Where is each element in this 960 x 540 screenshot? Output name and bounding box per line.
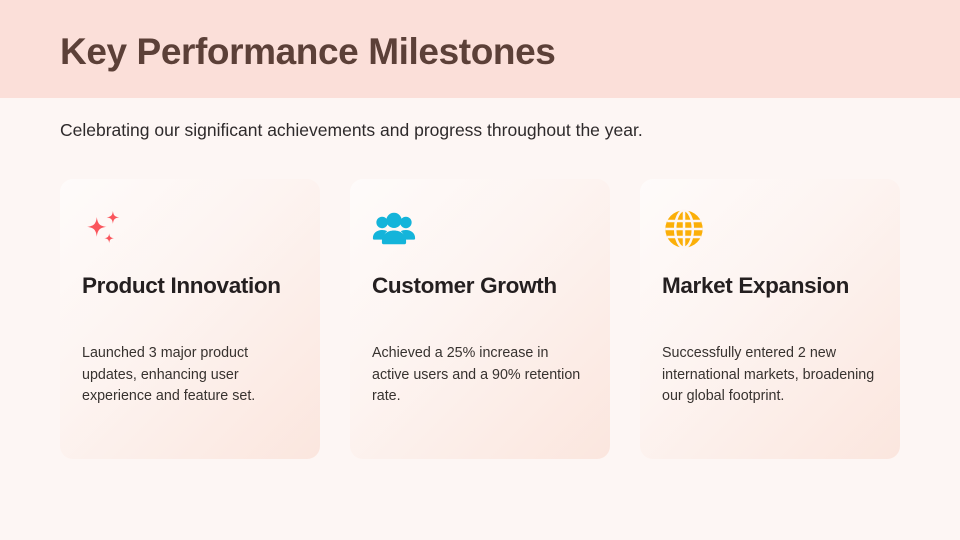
page-title: Key Performance Milestones xyxy=(60,31,555,74)
users-group-icon xyxy=(371,206,417,252)
card-description: Successfully entered 2 new international… xyxy=(662,343,878,408)
milestone-card[interactable]: Customer Growth Achieved a 25% increase … xyxy=(350,179,610,459)
header-band: Key Performance Milestones xyxy=(0,0,960,98)
subtitle: Celebrating our significant achievements… xyxy=(60,119,643,143)
card-description: Achieved a 25% increase in active users … xyxy=(372,343,588,408)
card-description: Launched 3 major product updates, enhanc… xyxy=(82,343,298,408)
card-title: Product Innovation xyxy=(82,272,298,299)
slide-root: Key Performance Milestones Celebrating o… xyxy=(0,0,960,540)
card-title: Customer Growth xyxy=(372,272,588,299)
sparkles-icon xyxy=(81,206,127,252)
card-title: Market Expansion xyxy=(662,272,878,299)
milestone-cards-row: Product Innovation Launched 3 major prod… xyxy=(60,179,900,459)
milestone-card[interactable]: Product Innovation Launched 3 major prod… xyxy=(60,179,320,459)
globe-icon xyxy=(661,206,707,252)
milestone-card[interactable]: Market Expansion Successfully entered 2 … xyxy=(640,179,900,459)
